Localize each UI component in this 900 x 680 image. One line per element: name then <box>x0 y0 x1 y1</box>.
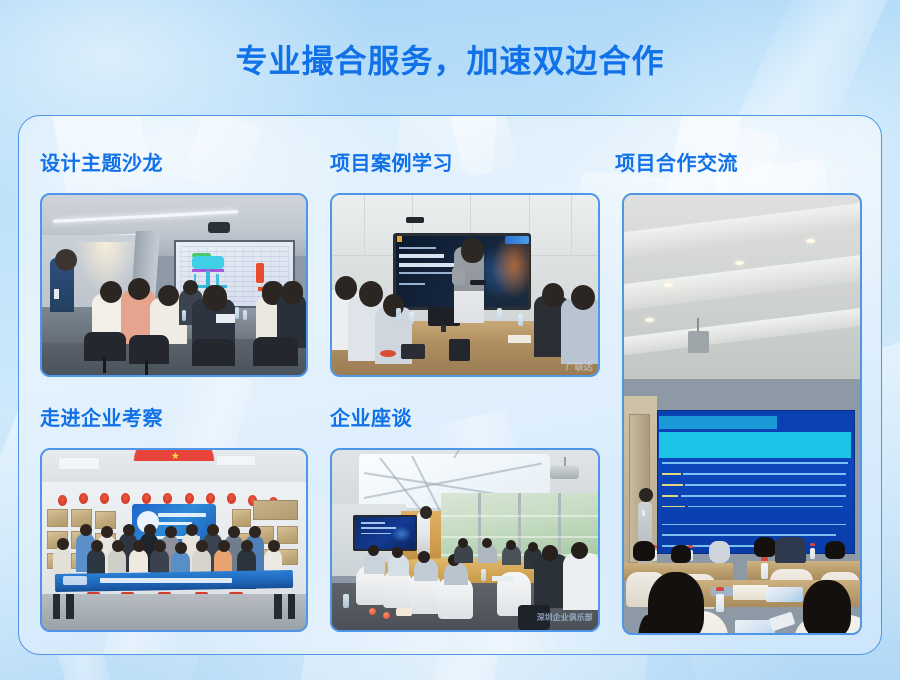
photo-project-cooperation[interactable] <box>622 193 862 635</box>
section-title-project-case-study: 项目案例学习 <box>330 147 453 176</box>
photo-enterprise-symposium-scene: 深圳企业俱乐部 <box>332 450 598 630</box>
decor-cube-4 <box>449 115 538 194</box>
section-title-enterprise-visit: 走进企业考察 <box>40 402 163 431</box>
photo-project-case-study[interactable]: 广联达 <box>330 193 600 377</box>
photo-project-case-study-scene: 广联达 <box>332 195 598 375</box>
photo-enterprise-visit[interactable] <box>40 448 308 632</box>
page-title: 专业撮合服务，加速双边合作 <box>0 36 900 82</box>
photo-enterprise-visit-scene <box>42 450 306 630</box>
photo-watermark: 广联达 <box>566 360 593 373</box>
photo-enterprise-symposium[interactable]: 深圳企业俱乐部 <box>330 448 600 632</box>
section-title-enterprise-symposium: 企业座谈 <box>330 402 412 431</box>
photo-design-salon[interactable] <box>40 193 308 377</box>
section-title-design-salon: 设计主题沙龙 <box>40 147 163 176</box>
photo-project-cooperation-scene <box>624 195 860 633</box>
photo-watermark: 深圳企业俱乐部 <box>537 613 593 623</box>
promo-page: 专业撮合服务，加速双边合作 设计主题沙龙 项目案例学习 项目合作交流 走进企业考… <box>0 0 900 680</box>
photo-design-salon-scene <box>42 195 306 375</box>
section-title-project-cooperation: 项目合作交流 <box>615 147 738 176</box>
